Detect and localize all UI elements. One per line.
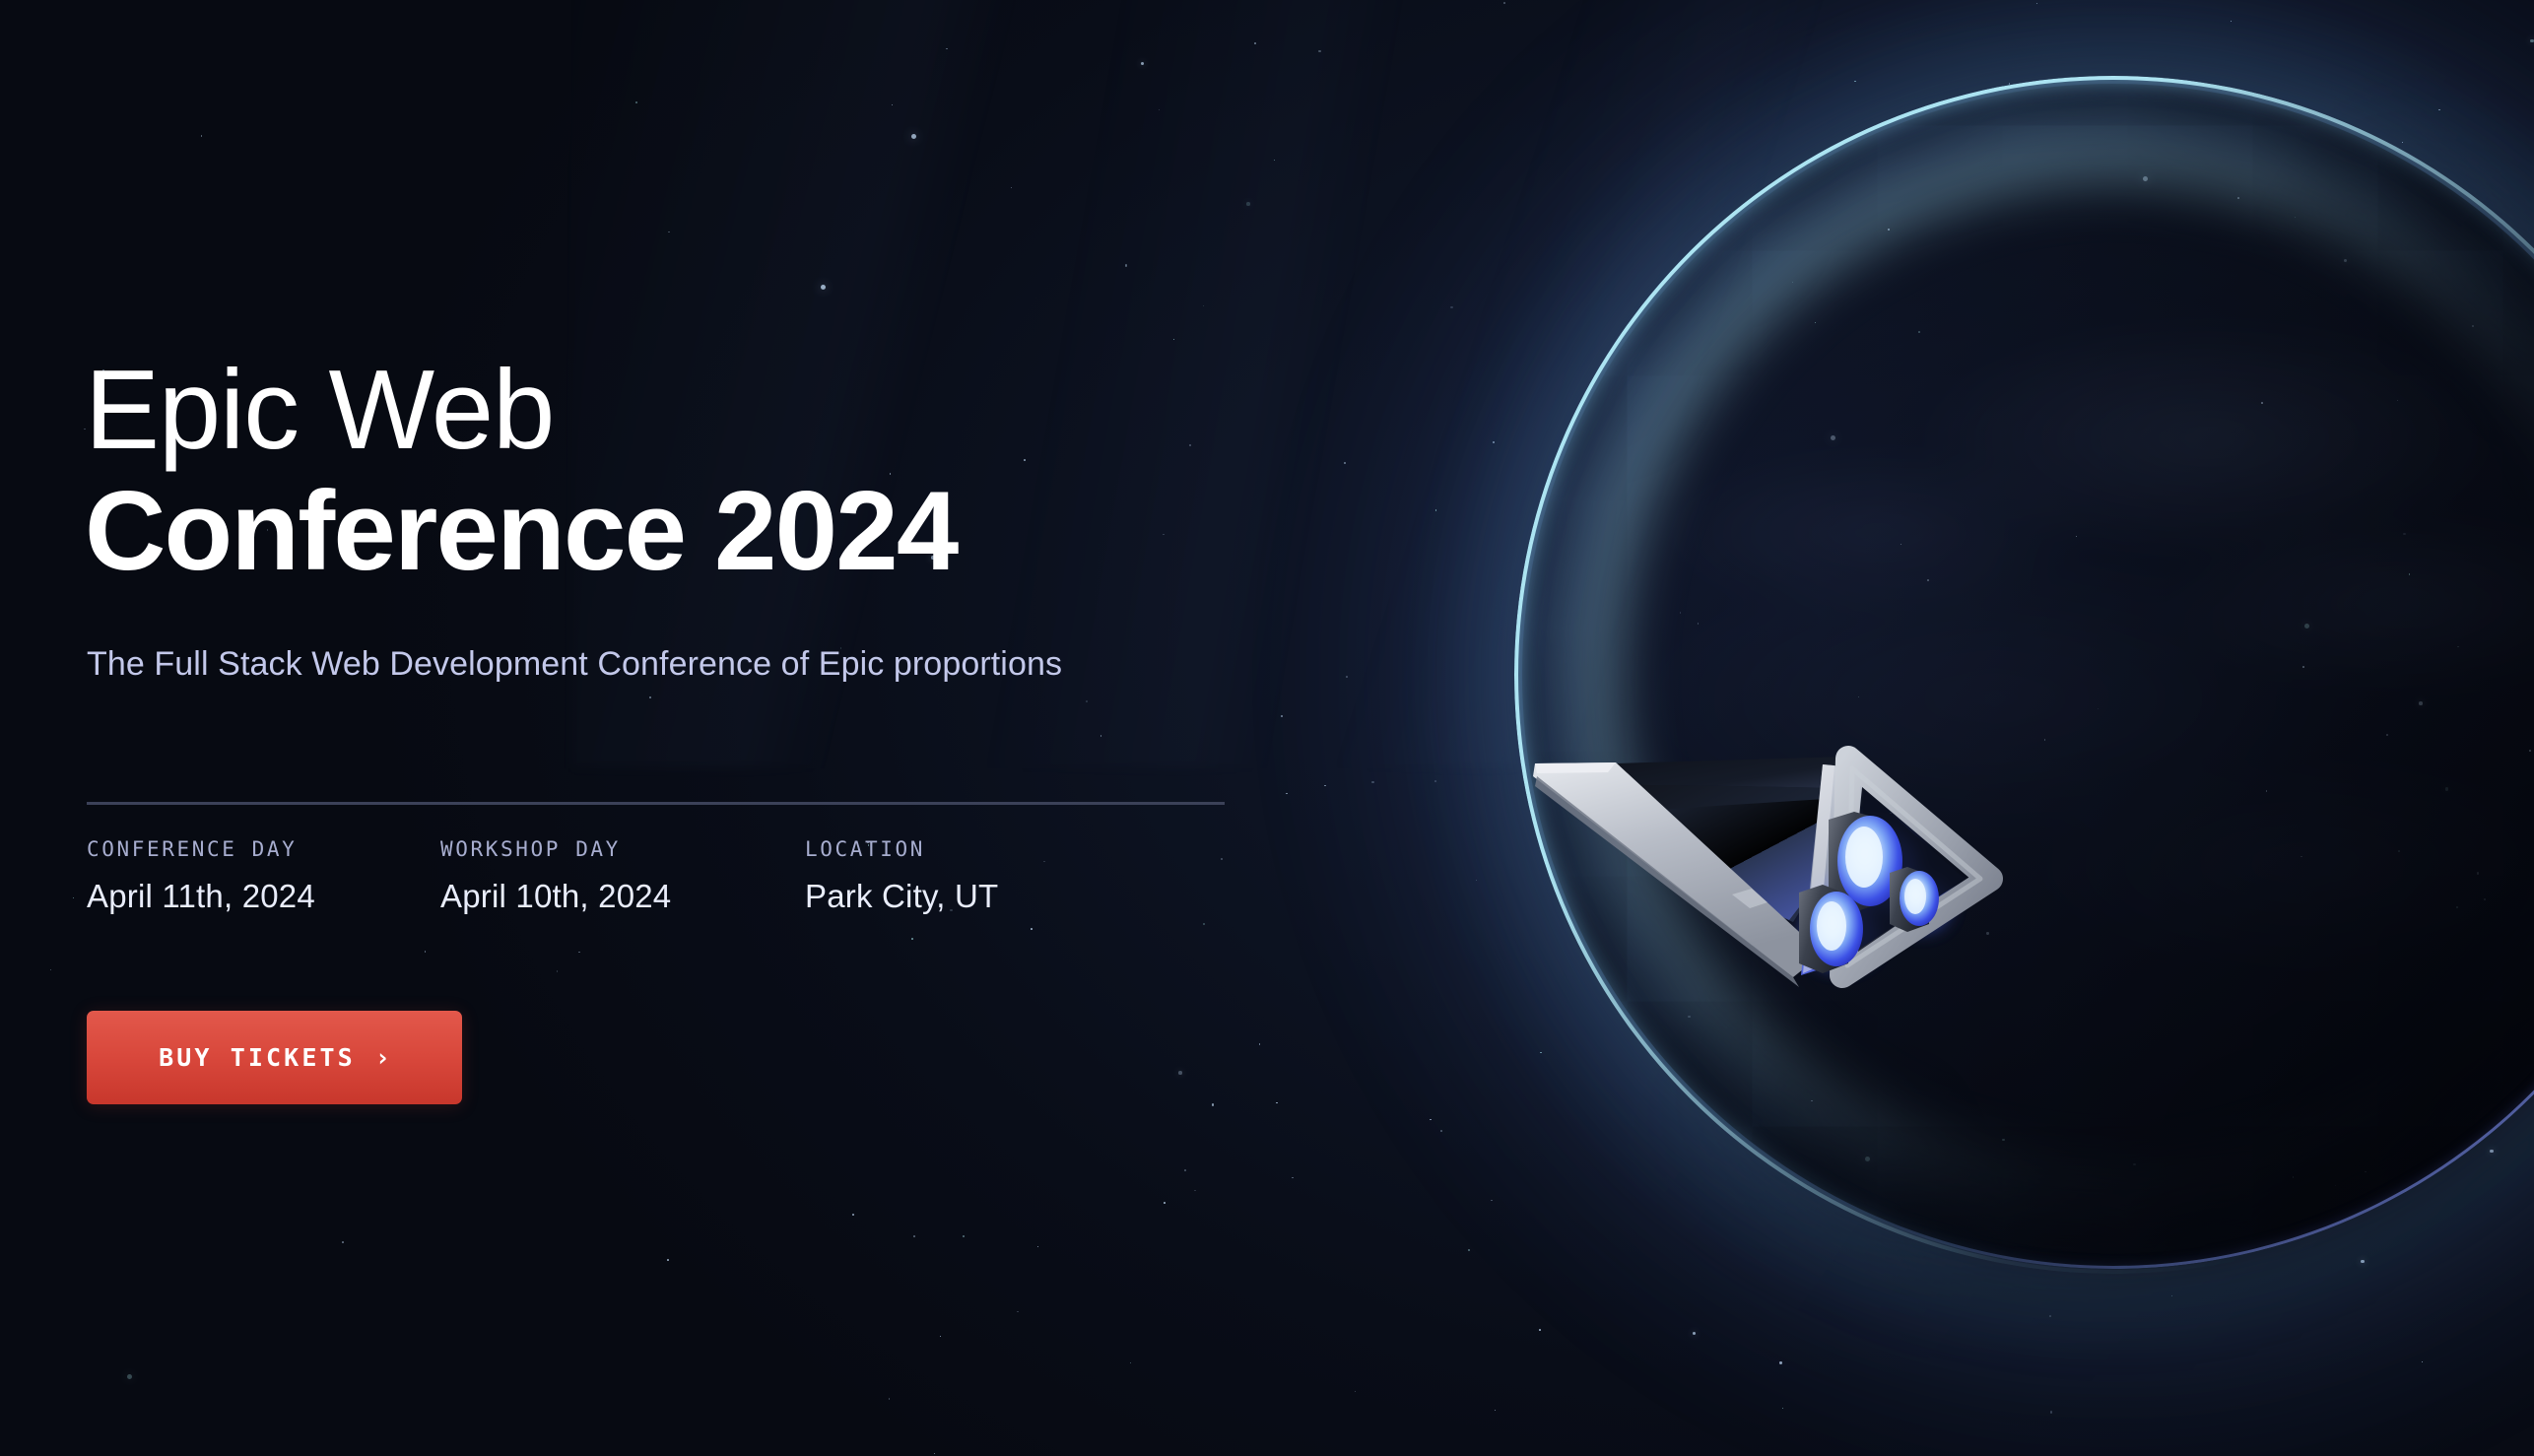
hero-content: Epic Web Conference 2024 The Full Stack … (85, 0, 1366, 1456)
planet-globe (1522, 84, 2534, 1266)
detail-value: April 10th, 2024 (440, 878, 805, 915)
detail-conference-day: CONFERENCE DAY April 11th, 2024 (87, 837, 440, 915)
detail-location: LOCATION Park City, UT (805, 837, 998, 915)
detail-value: Park City, UT (805, 878, 998, 915)
page-title: Epic Web Conference 2024 (85, 350, 957, 592)
detail-label: CONFERENCE DAY (87, 837, 440, 861)
event-details: CONFERENCE DAY April 11th, 2024 WORKSHOP… (87, 837, 998, 915)
detail-workshop-day: WORKSHOP DAY April 10th, 2024 (440, 837, 805, 915)
title-line-2: Conference 2024 (85, 471, 957, 592)
detail-value: April 11th, 2024 (87, 878, 440, 915)
buy-tickets-button[interactable]: BUY TICKETS › (87, 1011, 462, 1104)
chevron-right-icon: › (375, 1043, 390, 1072)
hero-section: Epic Web Conference 2024 The Full Stack … (0, 0, 2534, 1456)
detail-label: WORKSHOP DAY (440, 837, 805, 861)
spaceship (1498, 729, 2010, 1025)
title-line-1: Epic Web (85, 350, 957, 471)
detail-label: LOCATION (805, 837, 998, 861)
divider (87, 802, 1225, 805)
buy-tickets-label: BUY TICKETS (159, 1043, 356, 1072)
page-subtitle: The Full Stack Web Development Conferenc… (87, 645, 1062, 684)
